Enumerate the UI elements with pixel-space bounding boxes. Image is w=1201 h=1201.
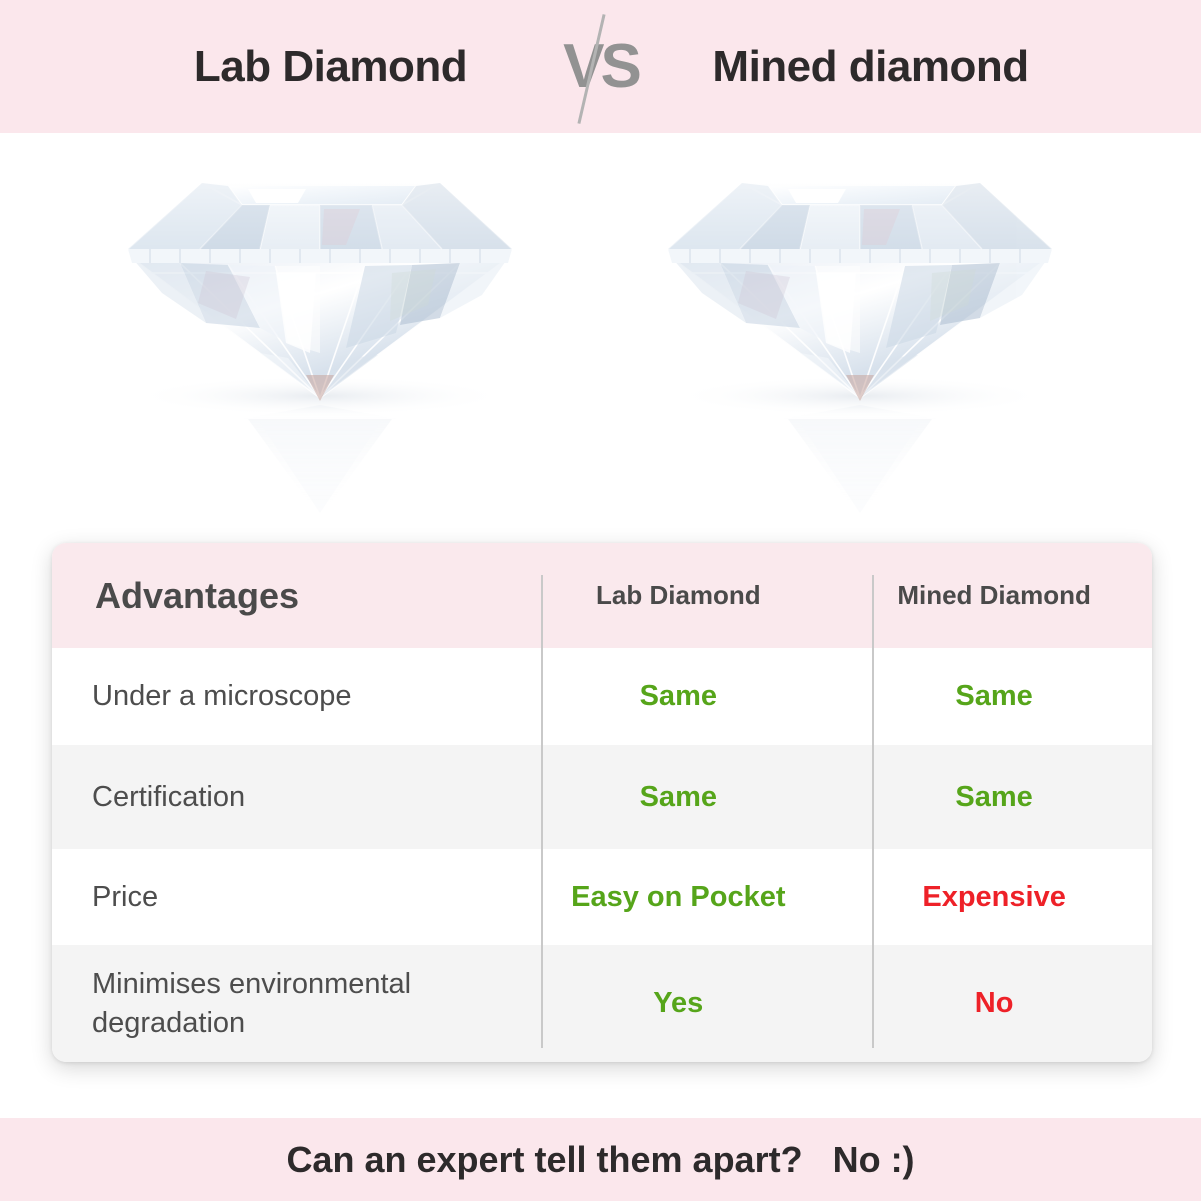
column-header-mined-diamond: Mined Diamond bbox=[836, 580, 1152, 611]
versus-badge: VS bbox=[546, 9, 656, 124]
header-title-lab: Lab Diamond bbox=[116, 42, 546, 92]
row-value-lab: Easy on Pocket bbox=[520, 881, 836, 914]
versus-label: VS bbox=[563, 36, 638, 98]
footer-band: Can an expert tell them apart? No :) bbox=[0, 1118, 1201, 1201]
header-title-mined: Mined diamond bbox=[656, 42, 1086, 92]
column-divider-1 bbox=[541, 575, 543, 1048]
row-value-lab: Same bbox=[520, 680, 836, 713]
row-value-lab: Yes bbox=[520, 987, 836, 1020]
column-header-lab-diamond: Lab Diamond bbox=[520, 580, 836, 611]
column-divider-2 bbox=[872, 575, 874, 1048]
table-row: Under a microscope Same Same bbox=[52, 648, 1152, 745]
table-row: Minimises environmental degradation Yes … bbox=[52, 945, 1152, 1062]
table-row: Price Easy on Pocket Expensive bbox=[52, 849, 1152, 945]
mined-diamond-image bbox=[650, 153, 1070, 533]
row-value-lab: Same bbox=[520, 781, 836, 814]
row-label: Certification bbox=[52, 778, 520, 816]
table-row: Certification Same Same bbox=[52, 745, 1152, 849]
lab-diamond-image bbox=[110, 153, 530, 533]
row-label: Under a microscope bbox=[52, 677, 520, 715]
diamond-illustration-icon bbox=[650, 153, 1070, 533]
row-label: Minimises environmental degradation bbox=[52, 965, 520, 1042]
diamond-illustration-icon bbox=[110, 153, 530, 533]
row-value-mined: Same bbox=[836, 781, 1152, 814]
footer-question: Can an expert tell them apart? No :) bbox=[286, 1139, 914, 1181]
row-value-mined: No bbox=[836, 987, 1152, 1020]
column-header-advantages: Advantages bbox=[52, 572, 520, 620]
comparison-card: Advantages Lab Diamond Mined Diamond Und… bbox=[52, 543, 1152, 1062]
diamond-stage bbox=[0, 133, 1201, 543]
row-label: Price bbox=[52, 878, 520, 916]
header-band: Lab Diamond VS Mined diamond bbox=[0, 0, 1201, 133]
comparison-table: Advantages Lab Diamond Mined Diamond Und… bbox=[52, 543, 1152, 1062]
row-value-mined: Expensive bbox=[836, 881, 1152, 914]
table-header-row: Advantages Lab Diamond Mined Diamond bbox=[52, 543, 1152, 648]
row-value-mined: Same bbox=[836, 680, 1152, 713]
